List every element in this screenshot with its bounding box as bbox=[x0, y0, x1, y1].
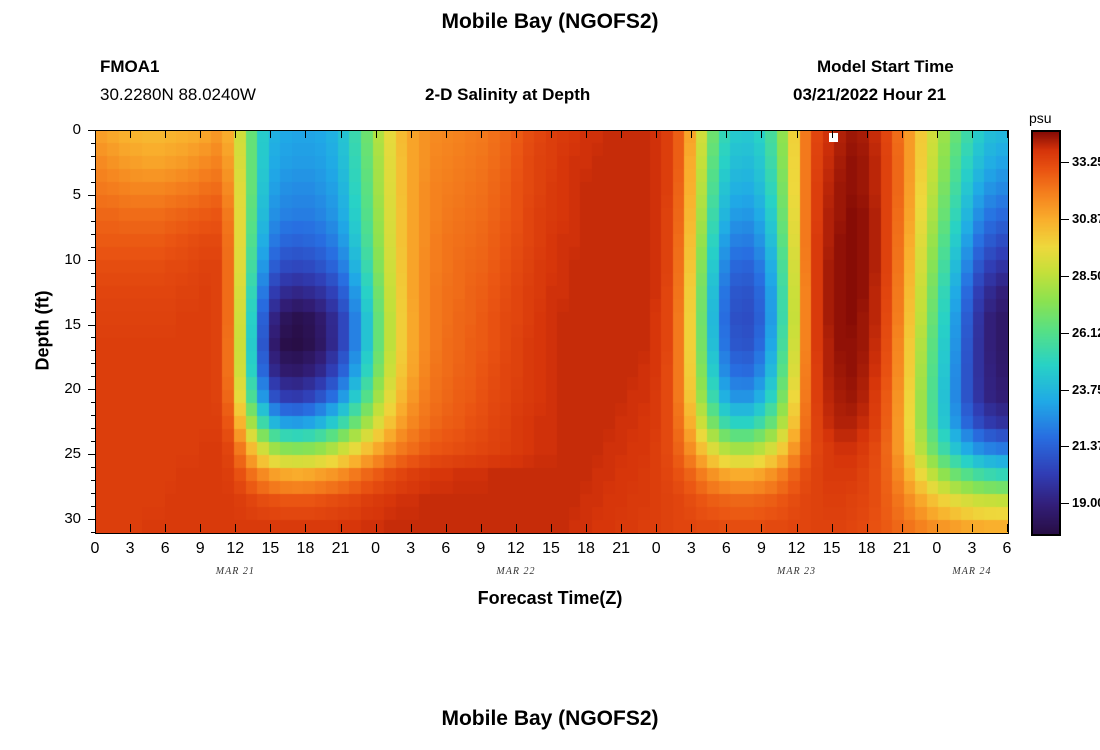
x-tick-label: 21 bbox=[606, 540, 636, 558]
x-tick-label: 12 bbox=[501, 540, 531, 558]
x-tick-mark bbox=[656, 130, 657, 138]
colorbar-tick-mark bbox=[1060, 390, 1069, 391]
model-start-time-value: 03/21/2022 Hour 21 bbox=[793, 85, 946, 105]
y-tick-label: 5 bbox=[41, 186, 81, 203]
x-tick-label: 6 bbox=[150, 540, 180, 558]
x-tick-label: 18 bbox=[571, 540, 601, 558]
x-tick-label: 3 bbox=[115, 540, 145, 558]
x-tick-mark-bottom bbox=[761, 524, 762, 532]
colorbar-tick-label: 28.500 bbox=[1072, 268, 1100, 283]
y-tick-mark bbox=[88, 519, 95, 520]
y-tick-mark bbox=[88, 325, 95, 326]
x-tick-mark-bottom bbox=[235, 524, 236, 532]
x-tick-mark bbox=[95, 130, 96, 138]
y-minor-tick bbox=[91, 312, 95, 313]
x-tick-mark bbox=[411, 130, 412, 138]
y-minor-tick bbox=[91, 506, 95, 507]
x-tick-mark-bottom bbox=[481, 524, 482, 532]
station-id: FMOA1 bbox=[100, 57, 160, 77]
colorbar-tick-mark bbox=[1060, 333, 1069, 334]
colorbar-tick-label: 23.750 bbox=[1072, 382, 1100, 397]
y-minor-tick bbox=[91, 221, 95, 222]
y-minor-tick bbox=[91, 350, 95, 351]
x-tick-mark-bottom bbox=[621, 524, 622, 532]
y-minor-tick bbox=[91, 441, 95, 442]
y-minor-tick bbox=[91, 299, 95, 300]
x-tick-mark-bottom bbox=[1007, 524, 1008, 532]
y-tick-label: 0 bbox=[41, 121, 81, 138]
y-minor-tick bbox=[91, 234, 95, 235]
salinity-heatmap-plot bbox=[95, 130, 1009, 534]
x-tick-label: 9 bbox=[746, 540, 776, 558]
y-axis-title: Depth (ft) bbox=[33, 261, 54, 401]
x-tick-mark bbox=[797, 130, 798, 138]
x-tick-label: 0 bbox=[80, 540, 110, 558]
y-minor-tick bbox=[91, 532, 95, 533]
x-tick-mark-bottom bbox=[95, 524, 96, 532]
x-tick-label: 3 bbox=[957, 540, 987, 558]
y-minor-tick bbox=[91, 208, 95, 209]
x-tick-mark-bottom bbox=[516, 524, 517, 532]
colorbar-tick-mark bbox=[1060, 219, 1069, 220]
x-tick-mark bbox=[200, 130, 201, 138]
y-minor-tick bbox=[91, 182, 95, 183]
station-coordinates: 30.2280N 88.0240W bbox=[100, 85, 256, 105]
y-minor-tick bbox=[91, 402, 95, 403]
x-tick-mark bbox=[832, 130, 833, 138]
y-minor-tick bbox=[91, 480, 95, 481]
y-minor-tick bbox=[91, 247, 95, 248]
x-tick-mark bbox=[235, 130, 236, 138]
x-tick-mark-bottom bbox=[937, 524, 938, 532]
x-tick-mark bbox=[691, 130, 692, 138]
y-tick-label: 25 bbox=[41, 445, 81, 462]
colorbar-tick-label: 33.250 bbox=[1072, 154, 1100, 169]
y-tick-label: 30 bbox=[41, 510, 81, 527]
x-tick-mark bbox=[165, 130, 166, 138]
y-minor-tick bbox=[91, 363, 95, 364]
x-tick-mark bbox=[516, 130, 517, 138]
x-tick-mark-bottom bbox=[130, 524, 131, 532]
x-tick-mark-bottom bbox=[305, 524, 306, 532]
x-tick-mark-bottom bbox=[411, 524, 412, 532]
y-minor-tick bbox=[91, 337, 95, 338]
x-tick-mark-bottom bbox=[200, 524, 201, 532]
page-title-top: Mobile Bay (NGOFS2) bbox=[0, 10, 1100, 34]
x-tick-label: 3 bbox=[396, 540, 426, 558]
x-tick-mark-bottom bbox=[551, 524, 552, 532]
y-minor-tick bbox=[91, 286, 95, 287]
x-tick-label: 15 bbox=[255, 540, 285, 558]
colorbar bbox=[1031, 130, 1061, 536]
x-tick-mark bbox=[621, 130, 622, 138]
missing-data-cell-marker bbox=[829, 133, 838, 142]
x-tick-mark bbox=[376, 130, 377, 138]
y-tick-mark bbox=[88, 454, 95, 455]
x-tick-label: 15 bbox=[817, 540, 847, 558]
x-tick-mark bbox=[446, 130, 447, 138]
colorbar-tick-mark bbox=[1060, 276, 1069, 277]
x-tick-mark-bottom bbox=[376, 524, 377, 532]
x-tick-mark bbox=[726, 130, 727, 138]
x-tick-mark bbox=[586, 130, 587, 138]
x-tick-mark-bottom bbox=[972, 524, 973, 532]
y-tick-mark bbox=[88, 389, 95, 390]
y-minor-tick bbox=[91, 467, 95, 468]
x-tick-mark-bottom bbox=[867, 524, 868, 532]
x-tick-mark-bottom bbox=[165, 524, 166, 532]
x-tick-label: 12 bbox=[782, 540, 812, 558]
x-tick-mark bbox=[867, 130, 868, 138]
y-minor-tick bbox=[91, 143, 95, 144]
y-minor-tick bbox=[91, 415, 95, 416]
y-minor-tick bbox=[91, 376, 95, 377]
x-tick-mark bbox=[481, 130, 482, 138]
x-tick-label: 12 bbox=[220, 540, 250, 558]
y-tick-mark bbox=[88, 260, 95, 261]
x-axis-day-label: MAR 22 bbox=[471, 566, 561, 577]
chart-subtitle: 2-D Salinity at Depth bbox=[425, 85, 590, 105]
x-tick-label: 21 bbox=[887, 540, 917, 558]
x-tick-mark bbox=[130, 130, 131, 138]
x-tick-label: 9 bbox=[466, 540, 496, 558]
x-axis-day-label: MAR 24 bbox=[927, 566, 1017, 577]
colorbar-tick-mark bbox=[1060, 503, 1069, 504]
x-tick-label: 6 bbox=[711, 540, 741, 558]
x-tick-mark bbox=[761, 130, 762, 138]
y-minor-tick bbox=[91, 493, 95, 494]
x-tick-label: 0 bbox=[361, 540, 391, 558]
x-tick-label: 0 bbox=[641, 540, 671, 558]
x-tick-mark bbox=[1007, 130, 1008, 138]
x-tick-mark-bottom bbox=[726, 524, 727, 532]
x-tick-mark-bottom bbox=[902, 524, 903, 532]
x-tick-label: 21 bbox=[326, 540, 356, 558]
x-tick-label: 18 bbox=[290, 540, 320, 558]
x-tick-label: 15 bbox=[536, 540, 566, 558]
page-title-bottom: Mobile Bay (NGOFS2) bbox=[0, 707, 1100, 731]
colorbar-tick-label: 30.875 bbox=[1072, 211, 1100, 226]
colorbar-unit-label: psu bbox=[1029, 110, 1052, 126]
x-tick-label: 9 bbox=[185, 540, 215, 558]
y-minor-tick bbox=[91, 156, 95, 157]
x-tick-mark bbox=[551, 130, 552, 138]
x-tick-mark bbox=[270, 130, 271, 138]
y-minor-tick bbox=[91, 428, 95, 429]
x-tick-mark-bottom bbox=[341, 524, 342, 532]
y-tick-mark bbox=[88, 130, 95, 131]
x-tick-mark bbox=[972, 130, 973, 138]
y-minor-tick bbox=[91, 273, 95, 274]
x-tick-label: 0 bbox=[922, 540, 952, 558]
x-tick-mark-bottom bbox=[656, 524, 657, 532]
x-tick-mark bbox=[937, 130, 938, 138]
x-tick-label: 6 bbox=[992, 540, 1022, 558]
x-tick-mark-bottom bbox=[832, 524, 833, 532]
x-tick-mark-bottom bbox=[446, 524, 447, 532]
colorbar-tick-label: 19.000 bbox=[1072, 495, 1100, 510]
colorbar-canvas bbox=[1033, 132, 1059, 534]
x-tick-mark bbox=[305, 130, 306, 138]
x-tick-mark bbox=[902, 130, 903, 138]
colorbar-tick-mark bbox=[1060, 446, 1069, 447]
colorbar-tick-mark bbox=[1060, 162, 1069, 163]
x-tick-label: 3 bbox=[676, 540, 706, 558]
x-tick-mark bbox=[341, 130, 342, 138]
colorbar-tick-label: 21.375 bbox=[1072, 438, 1100, 453]
x-axis-day-label: MAR 21 bbox=[190, 566, 280, 577]
colorbar-tick-label: 26.125 bbox=[1072, 325, 1100, 340]
heatmap-canvas bbox=[96, 131, 1008, 533]
x-tick-mark-bottom bbox=[691, 524, 692, 532]
x-axis-day-label: MAR 23 bbox=[752, 566, 842, 577]
y-tick-mark bbox=[88, 195, 95, 196]
x-tick-mark-bottom bbox=[797, 524, 798, 532]
y-minor-tick bbox=[91, 169, 95, 170]
x-tick-label: 6 bbox=[431, 540, 461, 558]
x-axis-title: Forecast Time(Z) bbox=[0, 588, 1100, 609]
x-tick-mark-bottom bbox=[270, 524, 271, 532]
x-tick-mark-bottom bbox=[586, 524, 587, 532]
model-start-time-label: Model Start Time bbox=[817, 57, 954, 77]
x-tick-label: 18 bbox=[852, 540, 882, 558]
